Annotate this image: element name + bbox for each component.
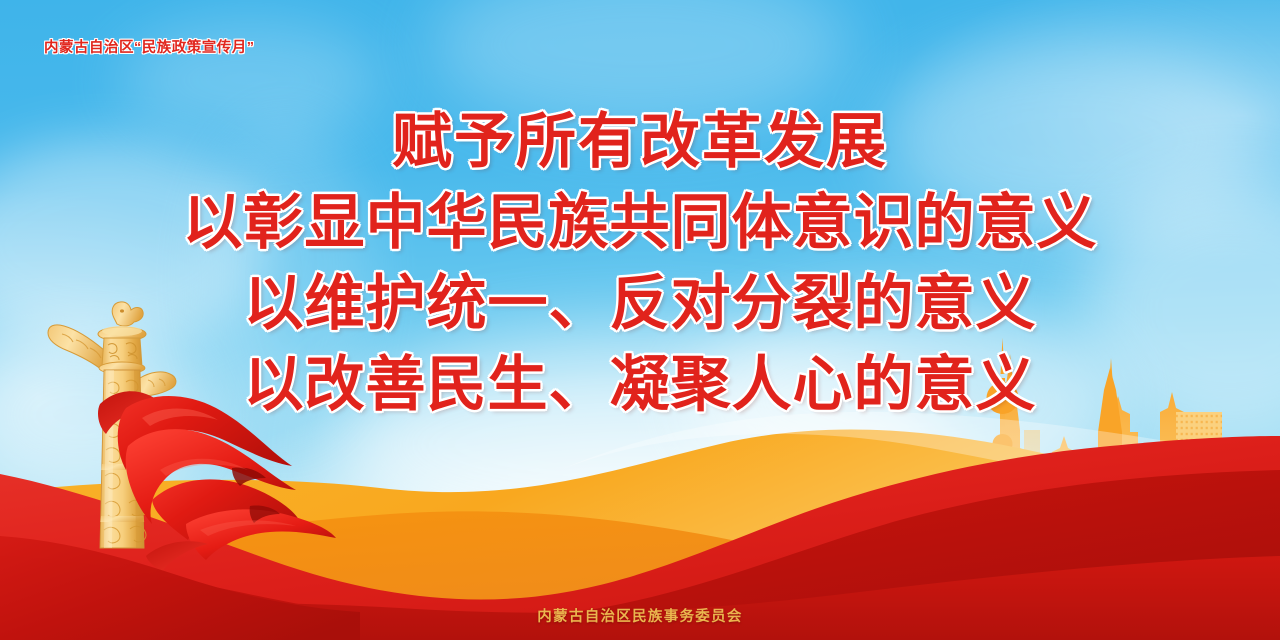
poster-canvas: 内蒙古自治区“民族政策宣传月” 赋予所有改革发展 以彰显中华民族共同体意识的意义… xyxy=(0,0,1280,640)
campaign-badge: 内蒙古自治区“民族政策宣传月” xyxy=(44,36,255,57)
scenery-illustration xyxy=(0,0,1280,640)
issuing-authority-footer: 内蒙古自治区民族事务委员会 xyxy=(0,605,1280,626)
